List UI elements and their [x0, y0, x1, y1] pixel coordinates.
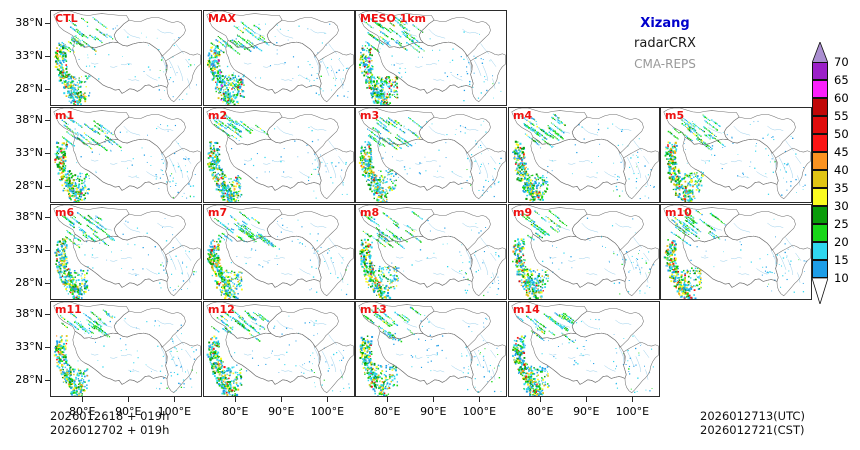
panel-title-m8: m8 — [360, 206, 379, 219]
xtick-mark — [128, 397, 129, 402]
ytick-label: 28°N — [3, 180, 43, 191]
panel-title-m2: m2 — [208, 109, 227, 122]
map-panel-max[interactable]: MAX — [203, 10, 355, 106]
colorbar-tick-label: 60 — [834, 93, 849, 104]
hydrology-layer — [91, 223, 191, 283]
xtick-mark — [433, 397, 434, 402]
map-panel-m9[interactable]: m9 — [508, 204, 660, 300]
map-panel-m2[interactable]: m2 — [203, 107, 355, 203]
panel-title-m5: m5 — [665, 109, 684, 122]
header-variable: radarCRX — [575, 36, 755, 51]
radar-echo-layer — [359, 211, 499, 299]
panel-title-m12: m12 — [208, 303, 235, 316]
map-panel-m13[interactable]: m13 — [355, 301, 507, 397]
map-panel-ctl[interactable]: CTL — [50, 10, 202, 106]
ytick-label: 28°N — [3, 83, 43, 94]
radar-echo-layer — [207, 310, 350, 396]
colorbar-swatch — [812, 116, 828, 134]
footer-left-line2: 2026012702 + 019h — [50, 424, 169, 437]
header-region: Xizang — [575, 16, 755, 31]
map-panel-m4[interactable]: m4 — [508, 107, 660, 203]
colorbar-swatch — [812, 206, 828, 224]
colorbar-swatch — [812, 134, 828, 152]
xtick-label: 90°E — [564, 406, 608, 417]
colorbar-swatch — [812, 98, 828, 116]
hydrology-layer — [701, 223, 801, 283]
hydrology-layer — [396, 126, 496, 186]
map-panel-m3[interactable]: m3 — [355, 107, 507, 203]
figure-canvas: Xizang radarCRX CMA-REPS 38°N33°N28°N38°… — [0, 0, 860, 450]
panel-title-m3: m3 — [360, 109, 379, 122]
admin-boundary-layer — [664, 108, 811, 199]
radar-echo-layer — [207, 22, 348, 105]
map-panel-meso-1km[interactable]: MESO 1km — [355, 10, 507, 106]
panel-title-max: MAX — [208, 12, 236, 25]
colorbar-tick-label: 70 — [834, 57, 849, 68]
panel-title-m14: m14 — [513, 303, 540, 316]
colorbar-tick-label: 30 — [834, 201, 849, 212]
xtick-label: 80°E — [518, 406, 562, 417]
footer-right-line1: 2026012713(UTC) — [700, 410, 805, 423]
colorbar-swatch — [812, 188, 828, 206]
hydrology-layer — [91, 320, 191, 380]
footer-right-line2: 2026012721(CST) — [700, 424, 805, 437]
panel-title-m13: m13 — [360, 303, 387, 316]
panel-title-m4: m4 — [513, 109, 532, 122]
colorbar-tick-label: 65 — [834, 75, 849, 86]
panel-title-m9: m9 — [513, 206, 532, 219]
colorbar-tick-label: 25 — [834, 219, 849, 230]
map-panel-m10[interactable]: m10 — [660, 204, 812, 300]
ytick-label: 38°N — [3, 308, 43, 319]
map-panel-m12[interactable]: m12 — [203, 301, 355, 397]
hydrology-layer — [91, 29, 191, 89]
panel-title-m1: m1 — [55, 109, 74, 122]
xtick-label: 90°E — [411, 406, 455, 417]
xtick-mark — [174, 397, 175, 402]
hydrology-layer — [244, 320, 344, 380]
ytick-label: 33°N — [3, 50, 43, 61]
colorbar-tick-label: 55 — [834, 111, 849, 122]
panel-title-m10: m10 — [665, 206, 692, 219]
map-panel-m11[interactable]: m11 — [50, 301, 202, 397]
xtick-label: 90°E — [259, 406, 303, 417]
panel-title-m11: m11 — [55, 303, 82, 316]
map-panel-m14[interactable]: m14 — [508, 301, 660, 397]
xtick-mark — [479, 397, 480, 402]
hydrology-layer — [91, 126, 191, 186]
map-panel-m5[interactable]: m5 — [660, 107, 812, 203]
colorbar-swatch — [812, 170, 828, 188]
colorbar-tick-label: 20 — [834, 237, 849, 248]
panel-title-meso-1km: MESO 1km — [360, 12, 426, 25]
xtick-label: 80°E — [365, 406, 409, 417]
ytick-label: 38°N — [3, 114, 43, 125]
map-panel-m6[interactable]: m6 — [50, 204, 202, 300]
colorbar-tick-label: 35 — [834, 183, 849, 194]
colorbar-over-arrow — [812, 42, 828, 63]
colorbar-swatch — [812, 260, 828, 278]
ytick-label: 28°N — [3, 374, 43, 385]
ytick-label: 33°N — [3, 147, 43, 158]
xtick-mark — [327, 397, 328, 402]
hydrology-layer — [396, 223, 496, 283]
header-model: CMA-REPS — [575, 57, 755, 71]
colorbar-tick-label: 40 — [834, 165, 849, 176]
colorbar-tick-label: 10 — [834, 273, 849, 284]
ytick-label: 38°N — [3, 17, 43, 28]
colorbar-tick-label: 50 — [834, 129, 849, 140]
colorbar-tick-label: 15 — [834, 255, 849, 266]
xtick-mark — [387, 397, 388, 402]
radar-echo-layer — [54, 310, 197, 396]
colorbar-swatch — [812, 152, 828, 170]
xtick-mark — [632, 397, 633, 402]
panel-title-ctl: CTL — [55, 12, 78, 25]
footer-left-line1: 2026012618 + 019h — [50, 410, 169, 423]
panel-title-m6: m6 — [55, 206, 74, 219]
hydrology-layer — [396, 320, 496, 380]
xtick-mark — [281, 397, 282, 402]
xtick-mark — [540, 397, 541, 402]
xtick-label: 80°E — [213, 406, 257, 417]
colorbar-swatch — [812, 224, 828, 242]
hydrology-layer — [549, 126, 649, 186]
ytick-label: 38°N — [3, 211, 43, 222]
colorbar-swatch — [812, 62, 828, 80]
radar-echo-layer — [359, 117, 502, 202]
panel-title-m7: m7 — [208, 206, 227, 219]
colorbar-swatch — [812, 80, 828, 98]
hydrology-layer — [701, 126, 801, 186]
admin-boundary-layer — [207, 108, 354, 199]
ytick-label: 33°N — [3, 244, 43, 255]
xtick-label: 100°E — [610, 406, 654, 417]
colorbar-tick-label: 45 — [834, 147, 849, 158]
map-panel-m8[interactable]: m8 — [355, 204, 507, 300]
ytick-label: 33°N — [3, 341, 43, 352]
colorbar-swatch — [812, 242, 828, 260]
ytick-label: 28°N — [3, 277, 43, 288]
hydrology-layer — [244, 126, 344, 186]
map-panel-m1[interactable]: m1 — [50, 107, 202, 203]
xtick-mark — [82, 397, 83, 402]
hydrology-layer — [244, 223, 344, 283]
xtick-mark — [235, 397, 236, 402]
radar-echo-layer — [512, 312, 654, 396]
map-panel-m7[interactable]: m7 — [203, 204, 355, 300]
colorbar-under-arrow — [812, 278, 828, 304]
xtick-label: 100°E — [305, 406, 349, 417]
xtick-mark — [586, 397, 587, 402]
xtick-label: 100°E — [457, 406, 501, 417]
